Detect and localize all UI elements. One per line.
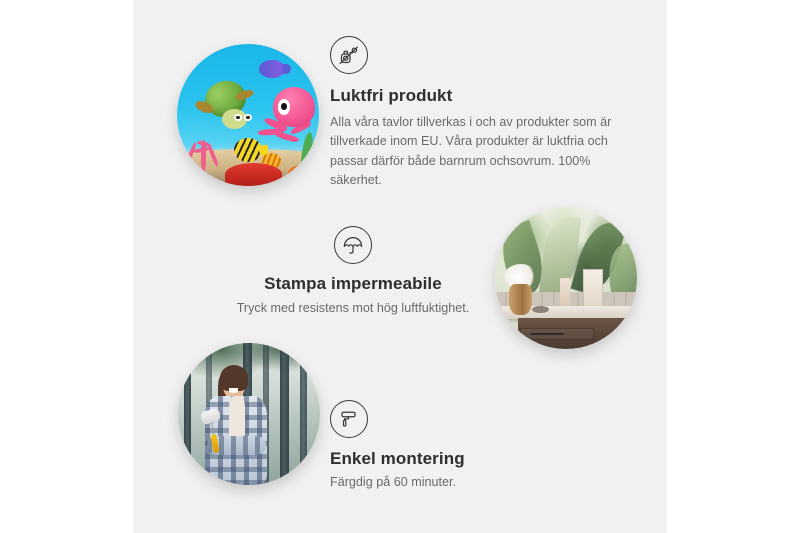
feature-description: Alla våra tavlor tillverkas i och av pro… <box>330 113 626 190</box>
bathroom-vanity-cabinet <box>518 318 637 349</box>
bathroom-picture-frame <box>583 269 603 309</box>
bathroom-bottle <box>560 278 570 309</box>
feature-easy-mounting: Enkel montering Färgdig på 60 minuter. <box>330 400 580 492</box>
paint-roller-icon <box>330 400 368 438</box>
forest-tree-1 <box>184 343 191 485</box>
woman-inner-shirt <box>229 396 245 436</box>
feature-odour-free: Luktfri produkt Alla våra tavlor tillver… <box>330 36 626 190</box>
umbrella-icon <box>334 226 372 264</box>
feature-title: Stampa impermeabile <box>228 274 478 294</box>
photo-ocean-kids-mural[interactable] <box>177 44 319 186</box>
perfume-bottle-crossed-out-icon <box>330 36 368 74</box>
screenshot-root: Luktfri produkt Alla våra tavlor tillver… <box>0 0 800 533</box>
woman-hair <box>220 365 248 391</box>
coral-branch-2 <box>184 142 197 165</box>
ocean-coral <box>183 126 226 171</box>
photo-ocean-inner <box>177 44 319 186</box>
woman-smile <box>229 388 239 393</box>
ocean-blue-fish <box>259 60 285 78</box>
turtle-eye-right <box>244 114 252 121</box>
vanity-door-handle <box>621 324 625 338</box>
feature-description: Färgdig på 60 minuter. <box>330 473 580 492</box>
woman-figure <box>204 369 278 485</box>
feature-description: Tryck med resistens mot hög luftfuktighe… <box>228 299 478 318</box>
ocean-turtle <box>194 81 256 129</box>
feature-title: Enkel montering <box>330 449 580 469</box>
feature-title: Luktfri produkt <box>330 86 626 106</box>
photo-bathroom-inner <box>495 207 637 349</box>
feature-waterproof-print: Stampa impermeabile Tryck med resistens … <box>228 226 478 318</box>
ocean-crab <box>225 163 282 186</box>
photo-woman-with-paint-roller[interactable] <box>178 343 320 485</box>
turtle-eye-left <box>234 114 242 121</box>
octopus-eye <box>278 99 290 115</box>
vanity-drawer-handle <box>530 333 563 334</box>
ocean-striped-fish <box>234 138 262 162</box>
photo-forest-inner <box>178 343 320 485</box>
forest-tree-6 <box>300 343 307 485</box>
forest-tree-5 <box>280 343 289 485</box>
bathroom-vase <box>509 284 532 315</box>
photo-bathroom-tropical-wallpaper[interactable] <box>495 207 637 349</box>
